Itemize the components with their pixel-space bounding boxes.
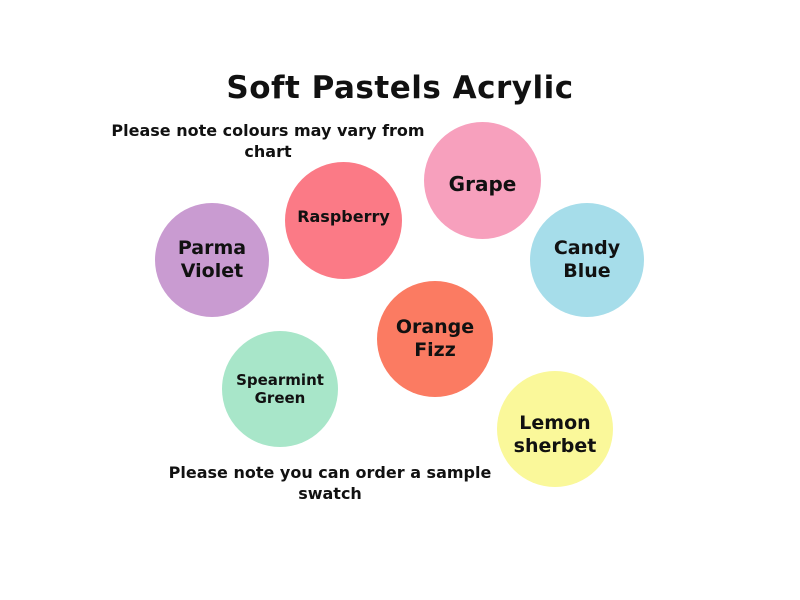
swatch-parma-violet[interactable]: Parma Violet [155, 203, 269, 317]
page-title: Soft Pastels Acrylic [0, 70, 800, 106]
swatch-lemon-sherbet[interactable]: Lemon sherbet [497, 371, 613, 487]
swatch-label-line2: Fizz [414, 339, 456, 361]
swatch-label-line2: Green [255, 389, 306, 407]
swatch-label-candy-blue: Candy Blue [548, 237, 626, 283]
swatch-label-grape: Grape [443, 172, 523, 196]
swatch-label-raspberry: Raspberry [291, 207, 396, 226]
swatch-label-line2: sherbet [514, 435, 597, 457]
swatch-candy-blue[interactable]: Candy Blue [530, 203, 644, 317]
swatch-label-orange-fizz: Orange Fizz [390, 316, 480, 362]
swatch-label-line1: Orange [396, 316, 474, 338]
swatch-label-spearmint-green: Spearmint Green [230, 371, 330, 407]
colour-chart-canvas: Soft Pastels Acrylic Please note colours… [0, 0, 800, 600]
swatch-label-line1: Candy [554, 237, 620, 259]
swatch-label-line1: Lemon [519, 412, 590, 434]
swatch-label-lemon-sherbet: Lemon sherbet [508, 412, 603, 458]
swatch-spearmint-green[interactable]: Spearmint Green [222, 331, 338, 447]
swatch-label-line1: Parma [178, 237, 246, 259]
swatch-label-line2: Violet [181, 260, 243, 282]
swatch-raspberry[interactable]: Raspberry [285, 162, 402, 279]
swatch-label-line2: Blue [563, 260, 610, 282]
swatch-label-line1: Grape [449, 172, 517, 196]
swatch-label-line1: Spearmint [236, 371, 324, 389]
note-colours-may-vary: Please note colours may vary from chart [108, 120, 428, 162]
swatch-grape[interactable]: Grape [424, 122, 541, 239]
swatch-label-line1: Raspberry [297, 207, 390, 226]
note-sample-swatch: Please note you can order a sample swatc… [165, 462, 495, 504]
swatch-label-parma-violet: Parma Violet [172, 237, 252, 283]
swatch-orange-fizz[interactable]: Orange Fizz [377, 281, 493, 397]
